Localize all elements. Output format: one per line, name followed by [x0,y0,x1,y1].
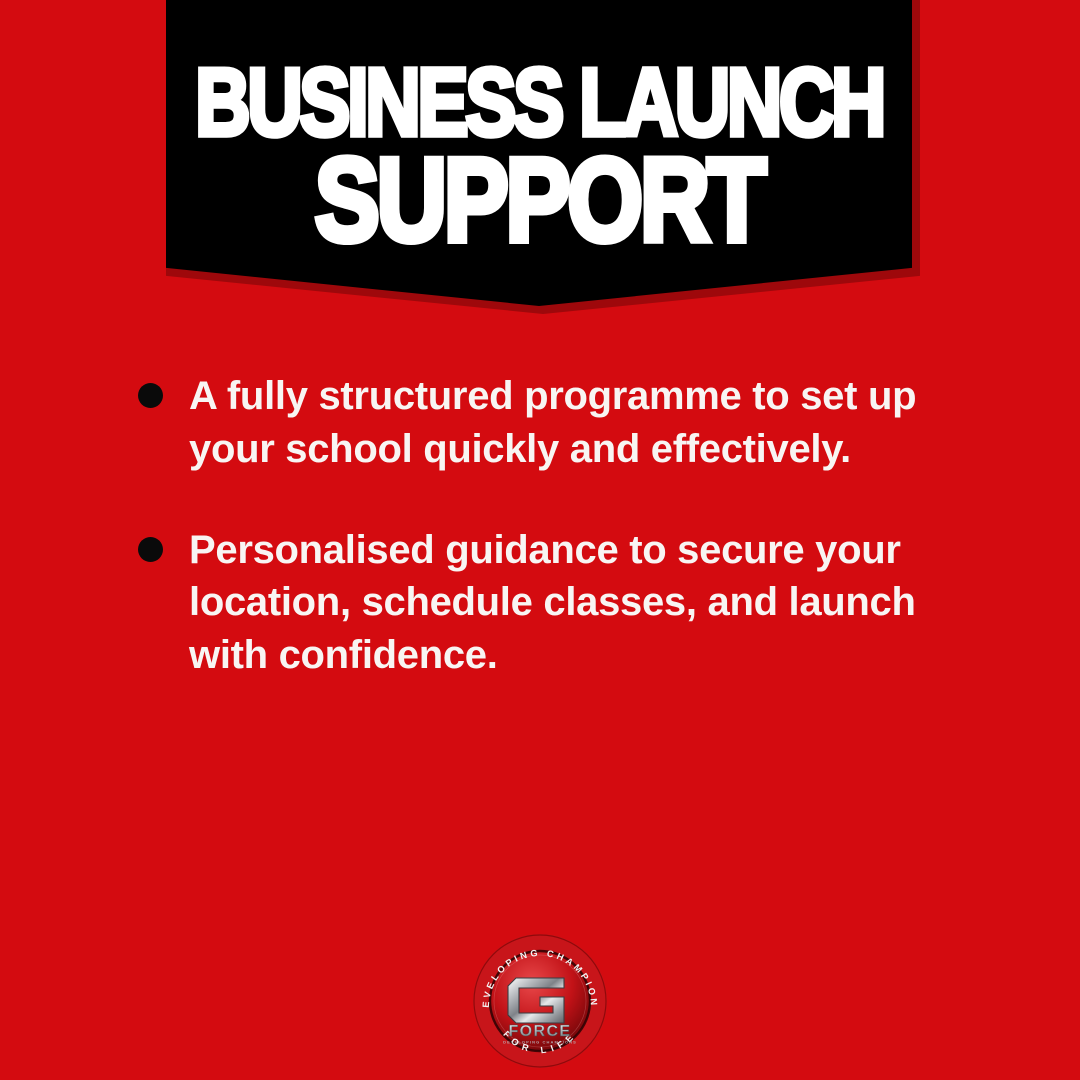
banner-face: BUSINESS LAUNCH SUPPORT [166,0,912,306]
list-item-text: A fully structured programme to set up y… [189,370,929,476]
list-item: A fully structured programme to set up y… [138,370,968,476]
bullet-dot-icon [138,537,163,562]
logo-tagline: DEVELOPING CHAMPIONS [503,1040,577,1045]
logo-wordmark: FORCE [509,1023,572,1040]
list-item: Personalised guidance to secure your loc… [138,524,968,682]
bullet-dot-icon [138,383,163,408]
list-item-text: Personalised guidance to secure your loc… [189,524,929,682]
g-force-logo-icon: DEVELOPING CHAMPIONS FOR LIFE FORCE DEVE… [472,933,608,1069]
page-title-line-2: SUPPORT [315,146,764,255]
header-banner: BUSINESS LAUNCH SUPPORT [166,0,920,314]
bullet-list: A fully structured programme to set up y… [138,370,968,730]
g-force-logo: DEVELOPING CHAMPIONS FOR LIFE FORCE DEVE… [472,933,608,1069]
